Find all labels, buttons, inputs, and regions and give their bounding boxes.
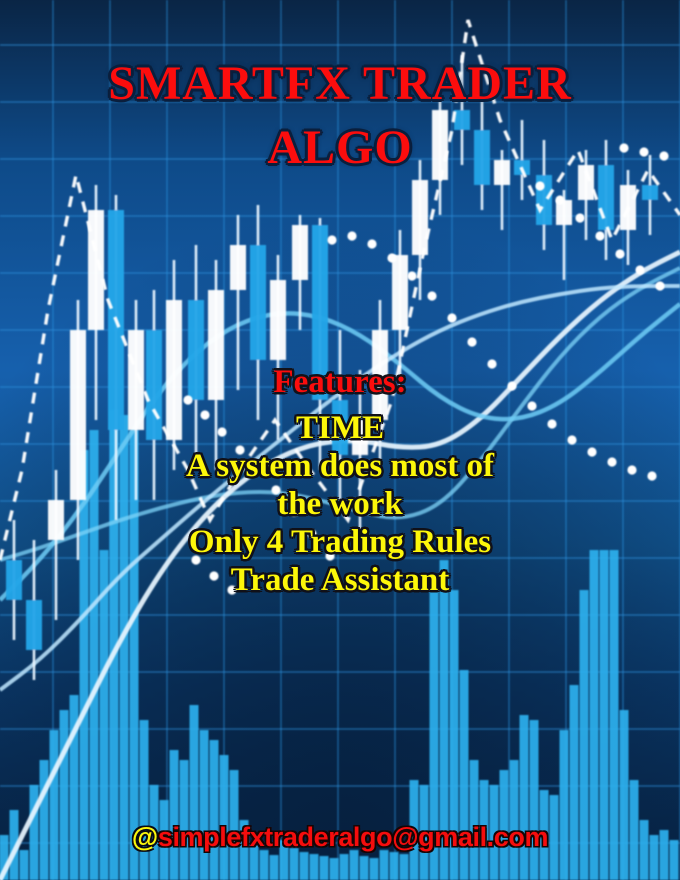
feature-item-time: TIME [0,412,680,445]
page-title-line-2: ALGO [0,124,680,172]
contact-email[interactable]: @simplefxtraderalgo@gmail.com [0,822,680,853]
text-overlay: SMARTFX TRADER ALGO Features: TIME A sys… [0,0,680,880]
features-heading: Features: [0,366,680,399]
at-symbol-icon: @ [132,822,158,852]
email-address-text: simplefxtraderalgo@gmail.com [158,822,548,852]
feature-item-system-line-2: the work [0,488,680,521]
feature-item-assistant: Trade Assistant [0,564,680,597]
promo-poster: SMARTFX TRADER ALGO Features: TIME A sys… [0,0,680,880]
page-title-line-1: SMARTFX TRADER [0,60,680,108]
feature-item-system-line-1: A system does most of [0,450,680,483]
feature-item-rules: Only 4 Trading Rules [0,526,680,559]
